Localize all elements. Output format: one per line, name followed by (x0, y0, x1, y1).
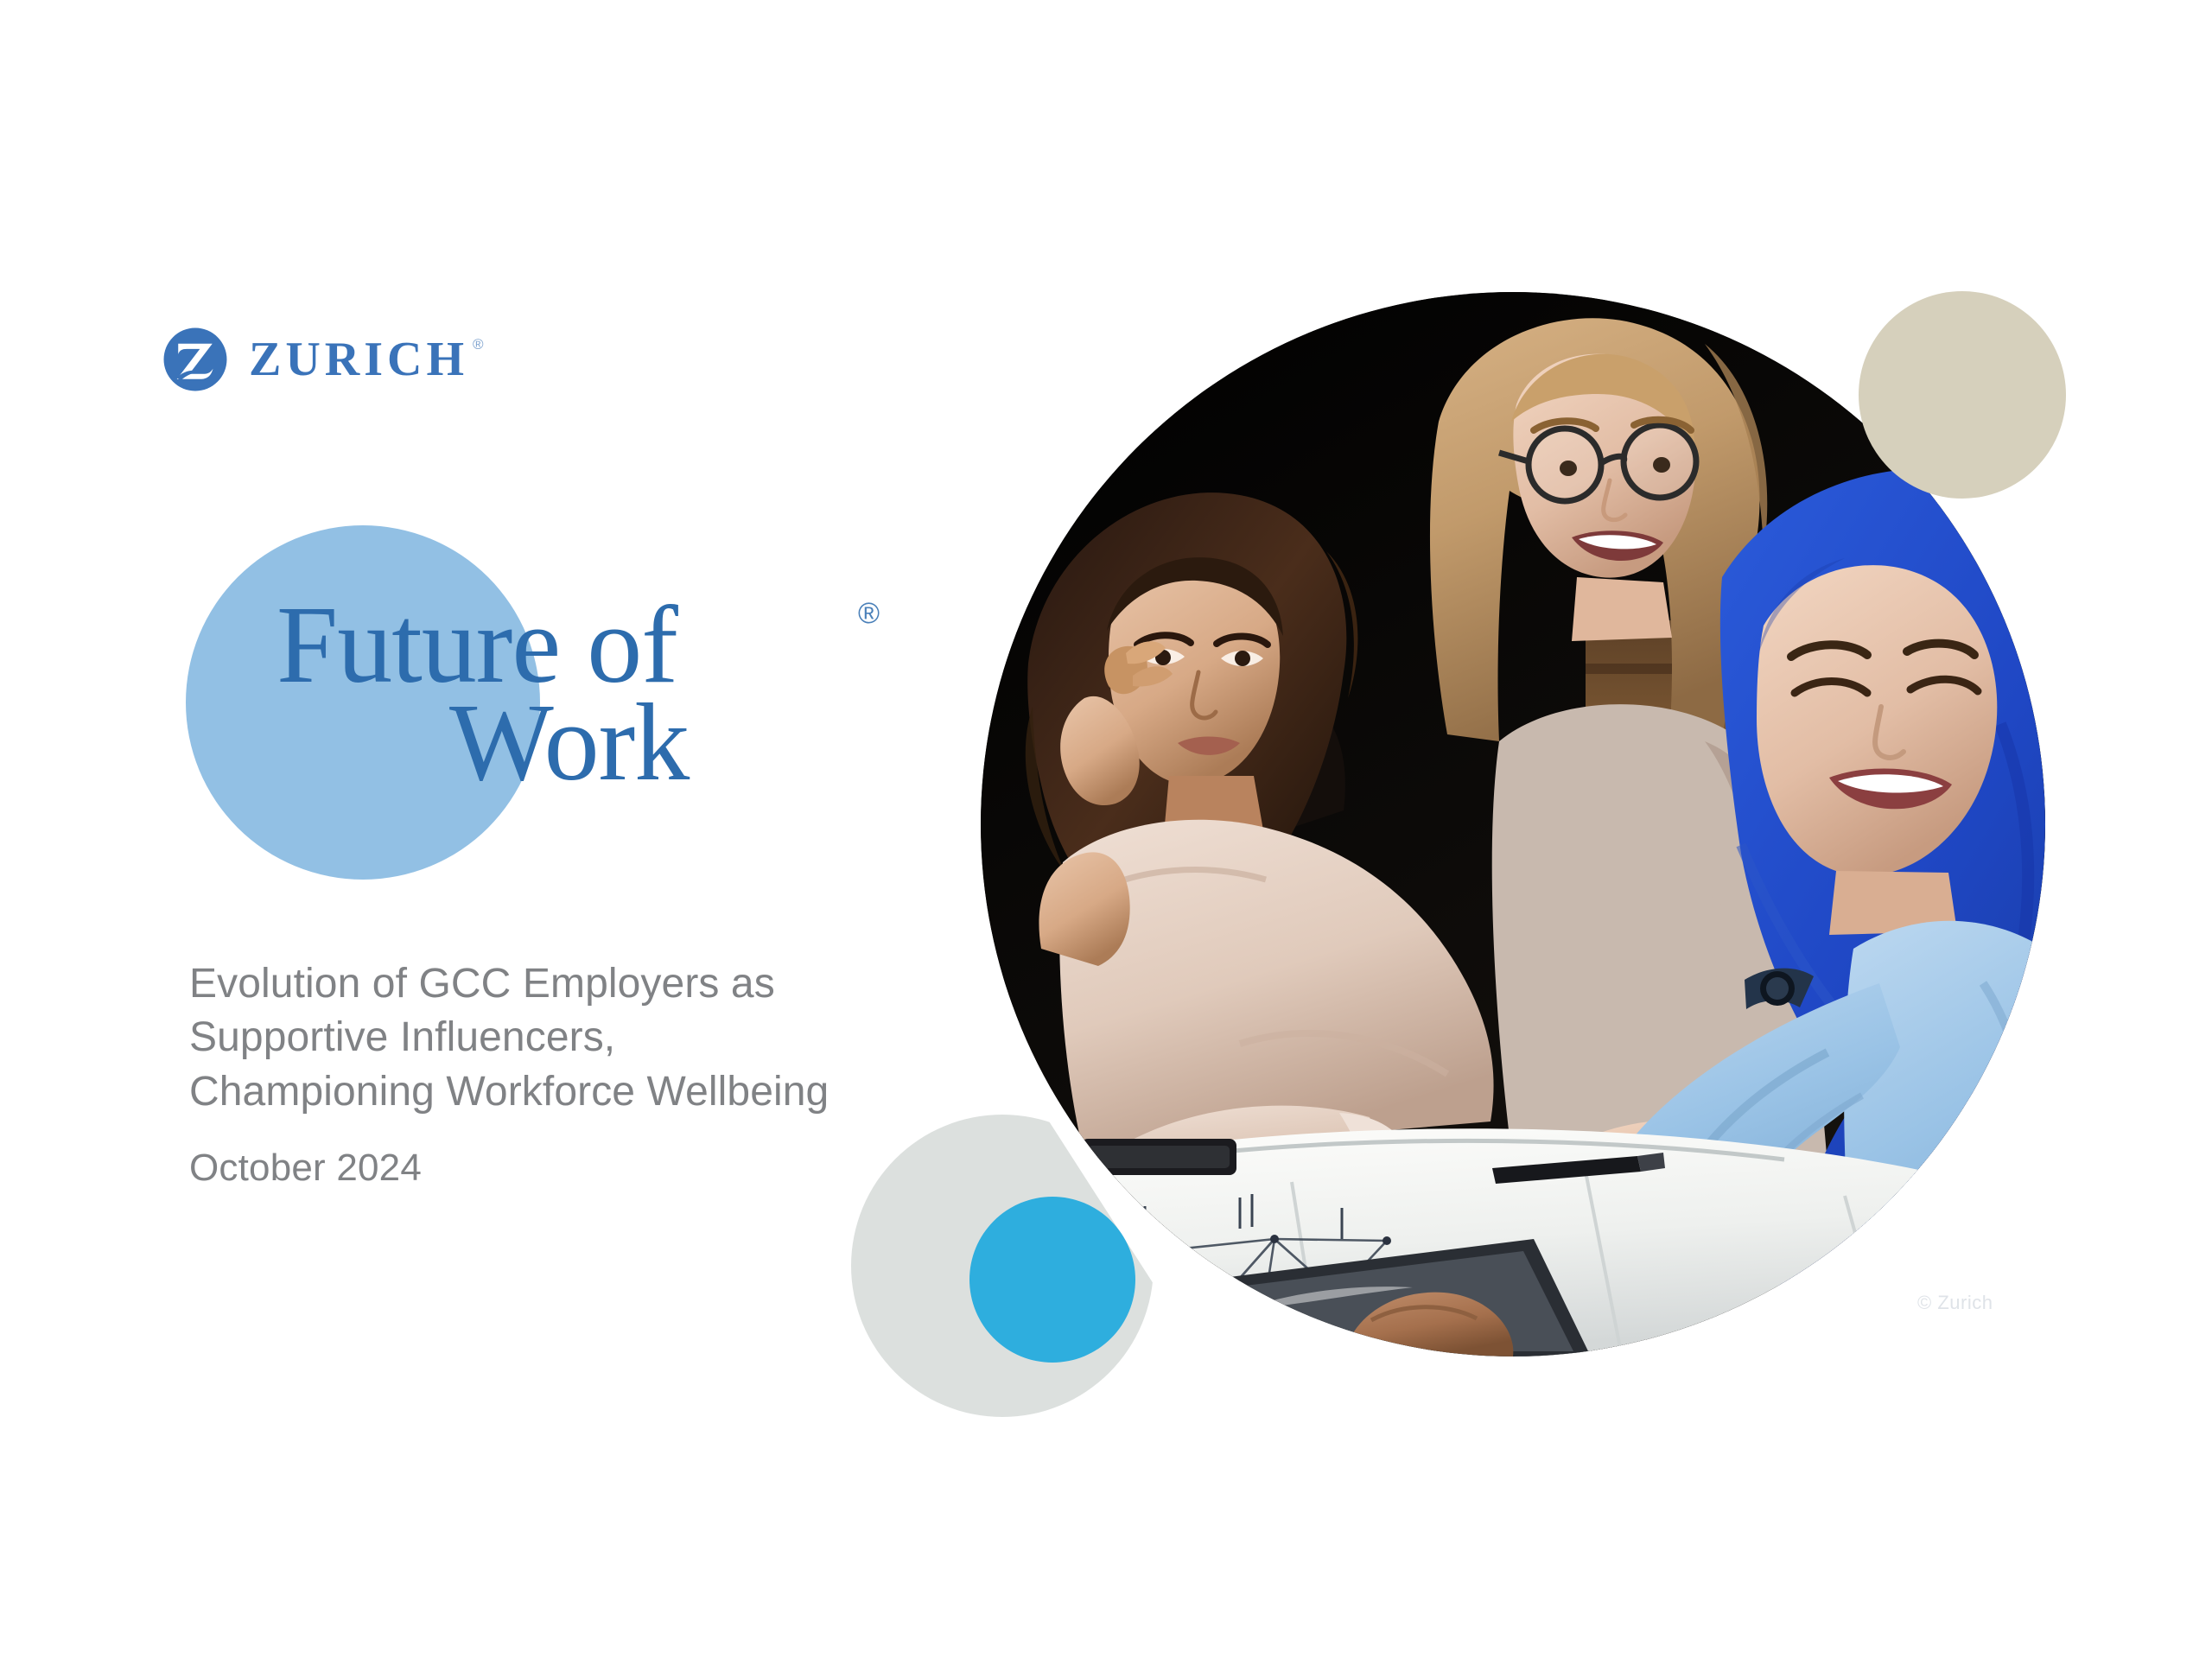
subtitle-line-one: Evolution of GCC Employers as (189, 957, 829, 1011)
subtitle-line-three: Championing Workforce Wellbeing (189, 1065, 829, 1119)
zurich-wordmark-text: ZURICH (249, 335, 468, 384)
cyan-accent-circle (969, 1197, 1135, 1363)
lockup-line-one: Future of (276, 596, 689, 694)
lockup-registered-icon: ® (858, 599, 880, 628)
beige-accent-circle (1859, 291, 2066, 499)
page-subtitle: Evolution of GCC Employers as Supportive… (189, 957, 829, 1119)
publication-date: October 2024 (189, 1146, 422, 1191)
lockup-line-two: Work (276, 694, 689, 791)
title-slide: ZURICH ® Future of Work ® Evolution of G… (0, 0, 2212, 1671)
zurich-wordmark: ZURICH ® (249, 335, 484, 384)
zurich-z-mark-icon (162, 327, 228, 392)
photo-credit: © Zurich (1917, 1292, 1993, 1314)
zurich-registered-icon: ® (473, 337, 484, 352)
subtitle-line-two: Supportive Influencers, (189, 1011, 829, 1064)
zurich-logo: ZURICH ® (162, 327, 484, 392)
future-of-work-lockup: Future of Work ® (276, 596, 689, 791)
